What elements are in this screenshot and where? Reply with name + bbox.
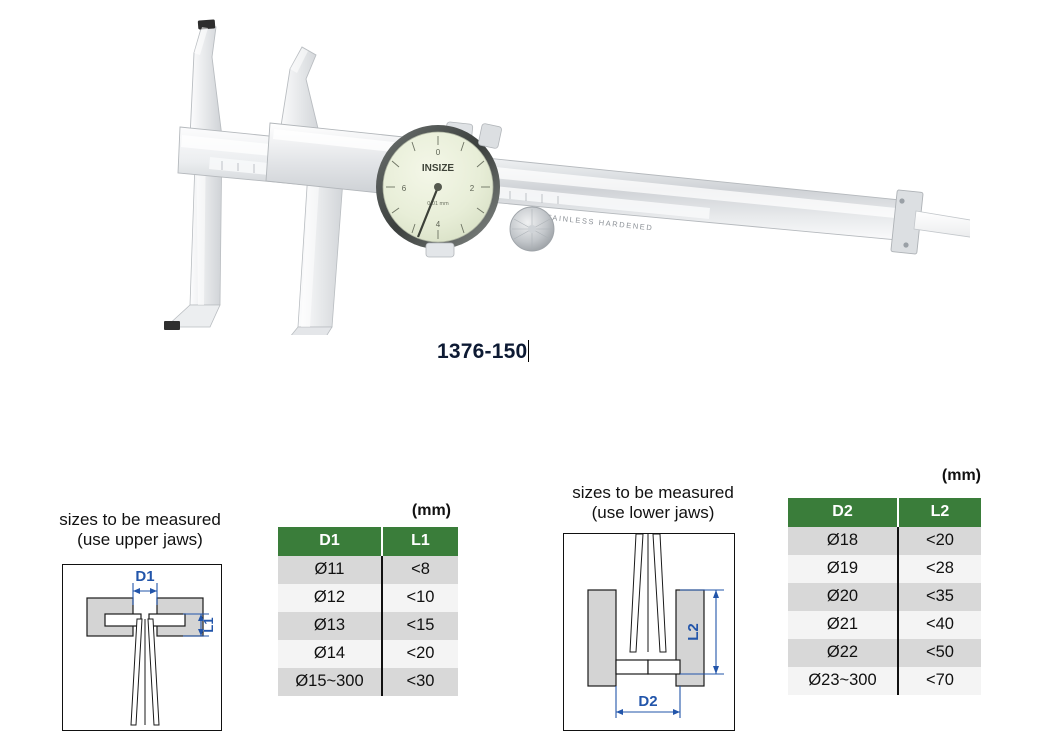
right-spec-table: D2 L2 Ø18 <20 Ø19 <28 Ø20 <35 Ø21 <40 Ø2 <box>788 498 981 695</box>
left-table-header-row: D1 L1 <box>278 527 458 556</box>
cell-l1: <10 <box>382 584 458 612</box>
thumb-roller <box>510 207 554 251</box>
l2-label: L2 <box>685 623 702 641</box>
cell-l2: <40 <box>898 611 981 639</box>
d1-dimension-line <box>133 583 157 605</box>
cell-d1: Ø13 <box>278 612 382 640</box>
depth-rod-assembly <box>891 190 970 257</box>
cell-l1: <20 <box>382 640 458 668</box>
right-table-header-row: D2 L2 <box>788 498 981 527</box>
left-spec-table: D1 L1 Ø11 <8 Ø12 <10 Ø13 <15 Ø14 <20 Ø15 <box>278 527 458 696</box>
right-col-header-0: D2 <box>788 498 898 527</box>
cell-d2: Ø23~300 <box>788 667 898 695</box>
left-col-header-1: L1 <box>382 527 458 556</box>
dial-brand-text: INSIZE <box>422 163 455 174</box>
cell-d1: Ø15~300 <box>278 668 382 696</box>
right-measurement-diagram: D2 L2 <box>563 533 735 731</box>
cell-d1: Ø11 <box>278 556 382 584</box>
cell-d2: Ø18 <box>788 527 898 555</box>
cell-d1: Ø14 <box>278 640 382 668</box>
table-row: Ø22 <50 <box>788 639 981 667</box>
table-row: Ø13 <15 <box>278 612 458 640</box>
cell-d2: Ø22 <box>788 639 898 667</box>
cell-l2: <20 <box>898 527 981 555</box>
table-row: Ø18 <20 <box>788 527 981 555</box>
cell-l2: <35 <box>898 583 981 611</box>
svg-text:6: 6 <box>402 184 407 193</box>
dial-indicator: 0 2 4 6 INSIZE 0.01 mm <box>376 123 502 257</box>
table-row: Ø20 <35 <box>788 583 981 611</box>
svg-text:4: 4 <box>436 220 441 229</box>
dial-bezel-lock <box>478 123 502 149</box>
cell-d2: Ø20 <box>788 583 898 611</box>
svg-text:2: 2 <box>470 184 475 193</box>
left-col-header-0: D1 <box>278 527 382 556</box>
cell-l2: <28 <box>898 555 981 583</box>
table-row: Ø14 <20 <box>278 640 458 668</box>
table-row: Ø12 <10 <box>278 584 458 612</box>
cell-d2: Ø19 <box>788 555 898 583</box>
left-measurement-diagram: D1 L1 <box>62 564 222 731</box>
cell-l1: <30 <box>382 668 458 696</box>
left-unit-label: (mm) <box>345 502 451 520</box>
right-caption-line1: sizes to be measured <box>538 483 768 503</box>
cell-d1: Ø12 <box>278 584 382 612</box>
d1-label: D1 <box>135 568 154 585</box>
model-number: 1376-150 <box>437 340 529 364</box>
right-unit-label: (mm) <box>875 467 981 485</box>
cell-l2: <50 <box>898 639 981 667</box>
svg-text:0: 0 <box>436 148 441 157</box>
cell-d2: Ø21 <box>788 611 898 639</box>
d2-label: D2 <box>638 693 657 710</box>
table-row: Ø21 <40 <box>788 611 981 639</box>
l1-label: L1 <box>201 617 216 632</box>
text-cursor <box>528 340 529 362</box>
upper-jaw-fixed <box>190 19 222 137</box>
table-row: Ø23~300 <70 <box>788 667 981 695</box>
right-diagram-caption: sizes to be measured (use lower jaws) <box>538 483 768 522</box>
left-caption-line2: (use upper jaws) <box>25 530 255 550</box>
right-caption-line2: (use lower jaws) <box>538 503 768 523</box>
table-row: Ø19 <28 <box>788 555 981 583</box>
cell-l1: <15 <box>382 612 458 640</box>
product-photo: STAINLESS HARDENED <box>150 5 970 335</box>
cell-l1: <8 <box>382 556 458 584</box>
page-canvas: STAINLESS HARDENED <box>0 0 1038 735</box>
right-col-header-1: L2 <box>898 498 981 527</box>
left-caption-line1: sizes to be measured <box>25 510 255 530</box>
table-row: Ø11 <8 <box>278 556 458 584</box>
model-number-text: 1376-150 <box>437 340 527 363</box>
cell-l2: <70 <box>898 667 981 695</box>
left-diagram-caption: sizes to be measured (use upper jaws) <box>25 510 255 549</box>
table-row: Ø15~300 <30 <box>278 668 458 696</box>
